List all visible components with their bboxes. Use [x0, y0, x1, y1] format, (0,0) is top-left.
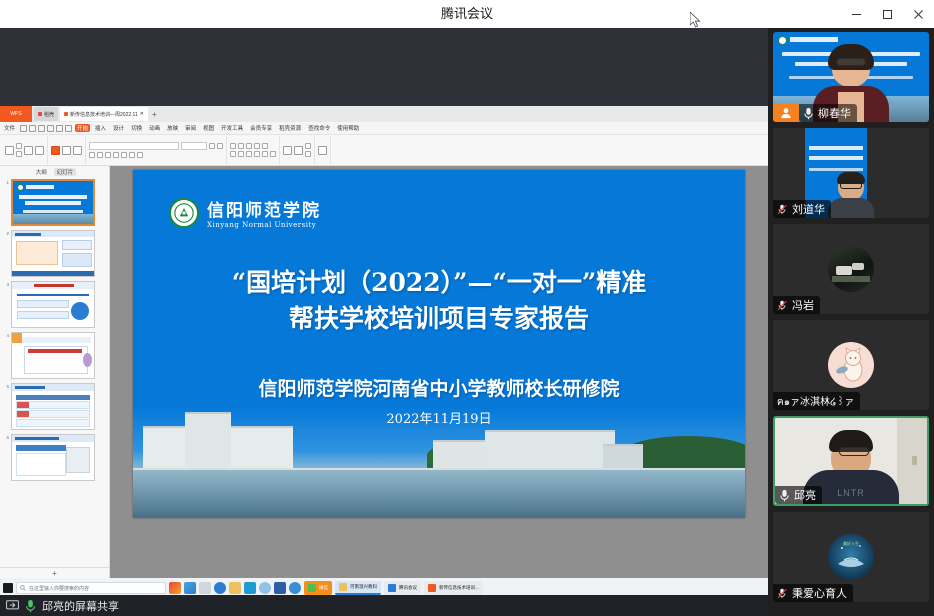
ribbon-tab-review[interactable]: 审阅 — [183, 124, 198, 132]
participant-tile-2[interactable]: 刘道华 — [773, 128, 929, 218]
screen-share-statusbar: 邱亮的屏幕共享 — [0, 595, 768, 616]
thumbnail-number: 3 — [4, 281, 9, 287]
wps-tabstrip: WPS 稻壳 新传信息技术培训—周2022.11 ✕ + — [0, 106, 768, 122]
thumbnail-slide-6[interactable] — [11, 434, 95, 481]
thumbnail-item[interactable]: 1 — [4, 179, 105, 226]
minimize-button[interactable] — [841, 0, 872, 28]
wps-workspace: 大纲 幻灯片 1 — [0, 166, 768, 578]
slide-subtitle: 信阳师范学院河南省中小学教师校长研修院 — [133, 374, 745, 401]
undo-icon[interactable] — [56, 125, 63, 132]
shared-desktop-content: WPS 稻壳 新传信息技术培训—周2022.11 ✕ + 文件 — [0, 106, 768, 578]
wps-ribbon — [0, 135, 768, 166]
thumbnail-item[interactable]: 3 — [4, 281, 105, 328]
decrease-font-icon[interactable] — [217, 143, 223, 149]
text-direction-icon[interactable] — [270, 151, 276, 157]
numbering-icon[interactable] — [238, 143, 244, 149]
thumbnail-number: 1 — [4, 179, 9, 185]
participant-name: 邱亮 — [794, 487, 816, 503]
participant-label: 邱亮 — [775, 486, 822, 504]
ribbon-tab-view[interactable]: 视图 — [201, 124, 216, 132]
thumbnail-item[interactable]: 6 — [4, 434, 105, 481]
participant-tile-3[interactable]: 冯岩 — [773, 224, 929, 314]
explorer-pin-icon[interactable] — [199, 582, 211, 594]
logo-text-english: Xinyang Normal University — [207, 221, 321, 229]
slide-editor-canvas[interactable]: 信阳师范学院 Xinyang Normal University “国培计划（2… — [110, 166, 768, 578]
window-title: 腾讯会议 — [0, 0, 934, 28]
participant-name: ฅ๑ァ冰淇林໒꒱ァ — [777, 393, 854, 410]
tab-slides[interactable]: 幻灯片 — [54, 168, 77, 176]
indent-increase-icon[interactable] — [254, 143, 260, 149]
thumbnail-number: 5 — [4, 383, 9, 389]
ribbon-tab-developer[interactable]: 开发工具 — [219, 124, 245, 132]
dochub-icon — [38, 112, 42, 116]
font-size-select[interactable] — [181, 142, 207, 150]
participant-name: 刘道华 — [792, 201, 825, 217]
tencent-meeting-window: 腾讯会议 WPS 稻壳 — [0, 0, 934, 616]
justify-icon[interactable] — [254, 151, 260, 157]
new-tab-button[interactable]: + — [152, 110, 157, 119]
thumbnail-item[interactable]: 5 — [4, 383, 105, 430]
ribbon-group-paragraph — [227, 136, 280, 164]
font-color-icon[interactable] — [129, 152, 135, 158]
taskbar-item-wps[interactable]: 新传信息技术培训... — [424, 581, 483, 595]
microphone-muted-icon — [777, 299, 788, 312]
thumbnail-slide-4[interactable] — [11, 332, 95, 379]
participant-name: 柳春华 — [818, 105, 851, 121]
menu-file[interactable]: 文件 — [2, 124, 17, 132]
new-slide-button[interactable] — [51, 146, 60, 155]
thumbnail-number: 6 — [4, 434, 9, 440]
cat-avatar — [828, 342, 874, 388]
quick-access-toolbar — [20, 125, 72, 132]
slide-thumbnails-pane: 大纲 幻灯片 1 — [0, 166, 110, 578]
wps-tab-presentation[interactable]: 新传信息技术培训—周2022.11 ✕ — [60, 107, 148, 121]
layout-button[interactable] — [62, 146, 71, 155]
ribbon-tab-insert[interactable]: 插入 — [93, 124, 108, 132]
ribbon-group-clipboard — [2, 136, 48, 164]
university-logo: 信阳师范学院 Xinyang Normal University — [169, 196, 321, 229]
increase-font-icon[interactable] — [209, 143, 215, 149]
window-titlebar: 腾讯会议 — [0, 0, 934, 28]
participant-label: 秉爱心育人 — [773, 584, 853, 602]
thumbnail-item[interactable]: 4 — [4, 332, 105, 379]
microphone-icon — [803, 107, 814, 120]
thumbnail-slide-5[interactable] — [11, 383, 95, 430]
align-center-icon[interactable] — [238, 151, 244, 157]
italic-icon[interactable] — [97, 152, 103, 158]
section-button[interactable] — [73, 146, 82, 155]
mail-icon[interactable] — [244, 582, 256, 594]
widgets-icon[interactable] — [169, 582, 181, 594]
format-painter-button[interactable] — [24, 146, 33, 155]
thumbnails-list[interactable]: 1 — [0, 177, 109, 567]
participant-tile-6[interactable]: 美好人生 秉爱心育人 — [773, 512, 929, 602]
svg-text:美好人生: 美好人生 — [843, 540, 859, 546]
align-left-icon[interactable] — [230, 151, 236, 157]
participant-name: 冯岩 — [792, 297, 814, 313]
taskbar-item-browser-window[interactable]: 河南温兴教科 — [335, 581, 381, 595]
speaking-indicator — [773, 104, 799, 122]
windows-start-icon[interactable] — [3, 583, 13, 593]
text-shadow-icon[interactable] — [121, 152, 127, 158]
ribbon-tab-start[interactable]: 开始 — [75, 124, 90, 132]
redo-icon[interactable] — [65, 125, 72, 132]
ribbon-tab-slideshow[interactable]: 放映 — [165, 124, 180, 132]
wps-tab-label: 新传信息技术培训—周2022.11 — [70, 111, 138, 118]
slide-date: 2022年11月19日 — [133, 408, 745, 427]
wps-tab-dochub[interactable]: 稻壳 — [34, 107, 58, 121]
university-emblem-icon — [169, 198, 199, 228]
microphone-muted-icon — [777, 203, 788, 216]
ribbon-group-editing — [315, 136, 331, 164]
underline-icon[interactable] — [105, 152, 111, 158]
shape-fill-button[interactable] — [305, 143, 311, 149]
file-explorer-icon[interactable] — [229, 582, 241, 594]
columns-icon[interactable] — [262, 151, 268, 157]
shape-outline-button[interactable] — [305, 151, 311, 157]
participant-label: ฅ๑ァ冰淇林໒꒱ァ — [773, 392, 860, 410]
taskbar-search-input[interactable]: 在这里输入你要搜索的内容 — [16, 582, 166, 594]
shared-screen-region[interactable]: WPS 稻壳 新传信息技术培训—周2022.11 ✕ + 文件 — [0, 28, 768, 616]
edge-icon[interactable] — [214, 582, 226, 594]
slide-title-line1: “国培计划（2022）”—“一对一”精准 — [147, 265, 731, 301]
arrange-button[interactable] — [294, 146, 303, 155]
print-icon[interactable] — [29, 125, 36, 132]
screen-share-icon — [6, 600, 19, 611]
participant-name: 秉爱心育人 — [792, 585, 847, 601]
highlight-icon[interactable] — [137, 152, 143, 158]
store-icon[interactable] — [274, 582, 286, 594]
cut-button[interactable] — [16, 143, 22, 149]
line-spacing-icon[interactable] — [262, 143, 268, 149]
thumbnail-number: 2 — [4, 230, 9, 236]
thumbnail-slide-3[interactable] — [11, 281, 95, 328]
current-slide[interactable]: 信阳师范学院 Xinyang Normal University “国培计划（2… — [133, 170, 745, 518]
maximize-button[interactable] — [872, 0, 903, 28]
weather-icon[interactable] — [259, 582, 271, 594]
thumbnail-slide-1[interactable] — [11, 179, 95, 226]
wps-menubar: 文件 开始 插入 设计 切换 动画 放映 审阅 视图 开发工具 会员专享 — [0, 122, 768, 135]
microphone-icon — [25, 599, 36, 613]
slide-title-line2: 帮扶学校培训项目专家报告 — [147, 301, 731, 337]
participant-tile-1[interactable]: 柳春华 — [773, 32, 929, 122]
taskbar-item-wechat[interactable]: 微信 — [304, 581, 332, 595]
ribbon-tab-member[interactable]: 会员专享 — [248, 124, 274, 132]
close-button[interactable] — [903, 0, 934, 28]
ribbon-tab-transition[interactable]: 切换 — [129, 124, 144, 132]
slideshow-button[interactable] — [35, 146, 44, 155]
share-letterbox-top — [0, 28, 768, 106]
ribbon-tab-animation[interactable]: 动画 — [147, 124, 162, 132]
bold-icon[interactable] — [89, 152, 95, 158]
taskbar-search-placeholder: 在这里输入你要搜索的内容 — [29, 585, 89, 592]
paste-button[interactable] — [5, 146, 14, 155]
person-icon — [780, 107, 792, 119]
command-search[interactable]: 查找命令 — [306, 124, 332, 132]
task-view-icon[interactable] — [184, 582, 196, 594]
thumbnails-view-tabs: 大纲 幻灯片 — [0, 166, 109, 177]
thumbnail-slide-2[interactable] — [11, 230, 95, 277]
indent-decrease-icon[interactable] — [246, 143, 252, 149]
scenery-avatar: 美好人生 — [828, 534, 874, 580]
participant-tile-5[interactable]: LNTR 邱亮 — [773, 416, 929, 506]
ribbon-group-drawing — [280, 136, 315, 164]
participant-label: 刘道华 — [773, 200, 831, 218]
taskbar-item-tencent-meeting[interactable]: 腾讯会议 — [384, 581, 421, 595]
ribbon-tab-design[interactable]: 设计 — [111, 124, 126, 132]
strikethrough-icon[interactable] — [113, 152, 119, 158]
shapes-button[interactable] — [283, 146, 292, 155]
browser-icon[interactable] — [289, 582, 301, 594]
microphone-icon — [779, 489, 790, 502]
thumbnail-item[interactable]: 2 — [4, 230, 105, 277]
share-owner-label: 邱亮的屏幕共享 — [42, 598, 119, 614]
participant-label: 冯岩 — [773, 296, 820, 314]
photo-avatar — [828, 246, 874, 292]
wps-logo: WPS — [0, 106, 32, 122]
participant-sidebar[interactable]: 柳春华 刘 — [768, 28, 934, 616]
bullets-icon[interactable] — [230, 143, 236, 149]
add-slide-button[interactable]: + — [0, 567, 109, 578]
presentation-file-icon — [64, 112, 68, 116]
participant-tile-4[interactable]: ฅ๑ァ冰淇林໒꒱ァ — [773, 320, 929, 410]
save-icon[interactable] — [20, 125, 27, 132]
ribbon-tab-docer[interactable]: 稻壳资源 — [277, 124, 303, 132]
find-replace-button[interactable] — [318, 146, 327, 155]
microphone-muted-icon — [777, 587, 788, 600]
slide-title: “国培计划（2022）”—“一对一”精准 帮扶学校培训项目专家报告 — [133, 265, 745, 336]
ribbon-group-font — [86, 136, 227, 164]
window-controls — [841, 0, 934, 28]
tab-close-icon[interactable]: ✕ — [140, 111, 144, 117]
share-icon[interactable] — [47, 125, 54, 132]
thumbnail-number: 4 — [4, 332, 9, 338]
search-icon — [20, 585, 26, 591]
participant-label: 柳春华 — [799, 104, 857, 122]
tab-outline[interactable]: 大纲 — [33, 168, 50, 176]
logo-text-chinese: 信阳师范学院 — [207, 196, 321, 221]
font-family-select[interactable] — [89, 142, 179, 150]
wps-tab-label: 稻壳 — [44, 111, 54, 118]
help-link[interactable]: 使用帮助 — [335, 124, 361, 132]
copy-button[interactable] — [16, 151, 22, 157]
export-pdf-icon[interactable] — [38, 125, 45, 132]
ribbon-group-slides — [48, 136, 86, 164]
align-right-icon[interactable] — [246, 151, 252, 157]
